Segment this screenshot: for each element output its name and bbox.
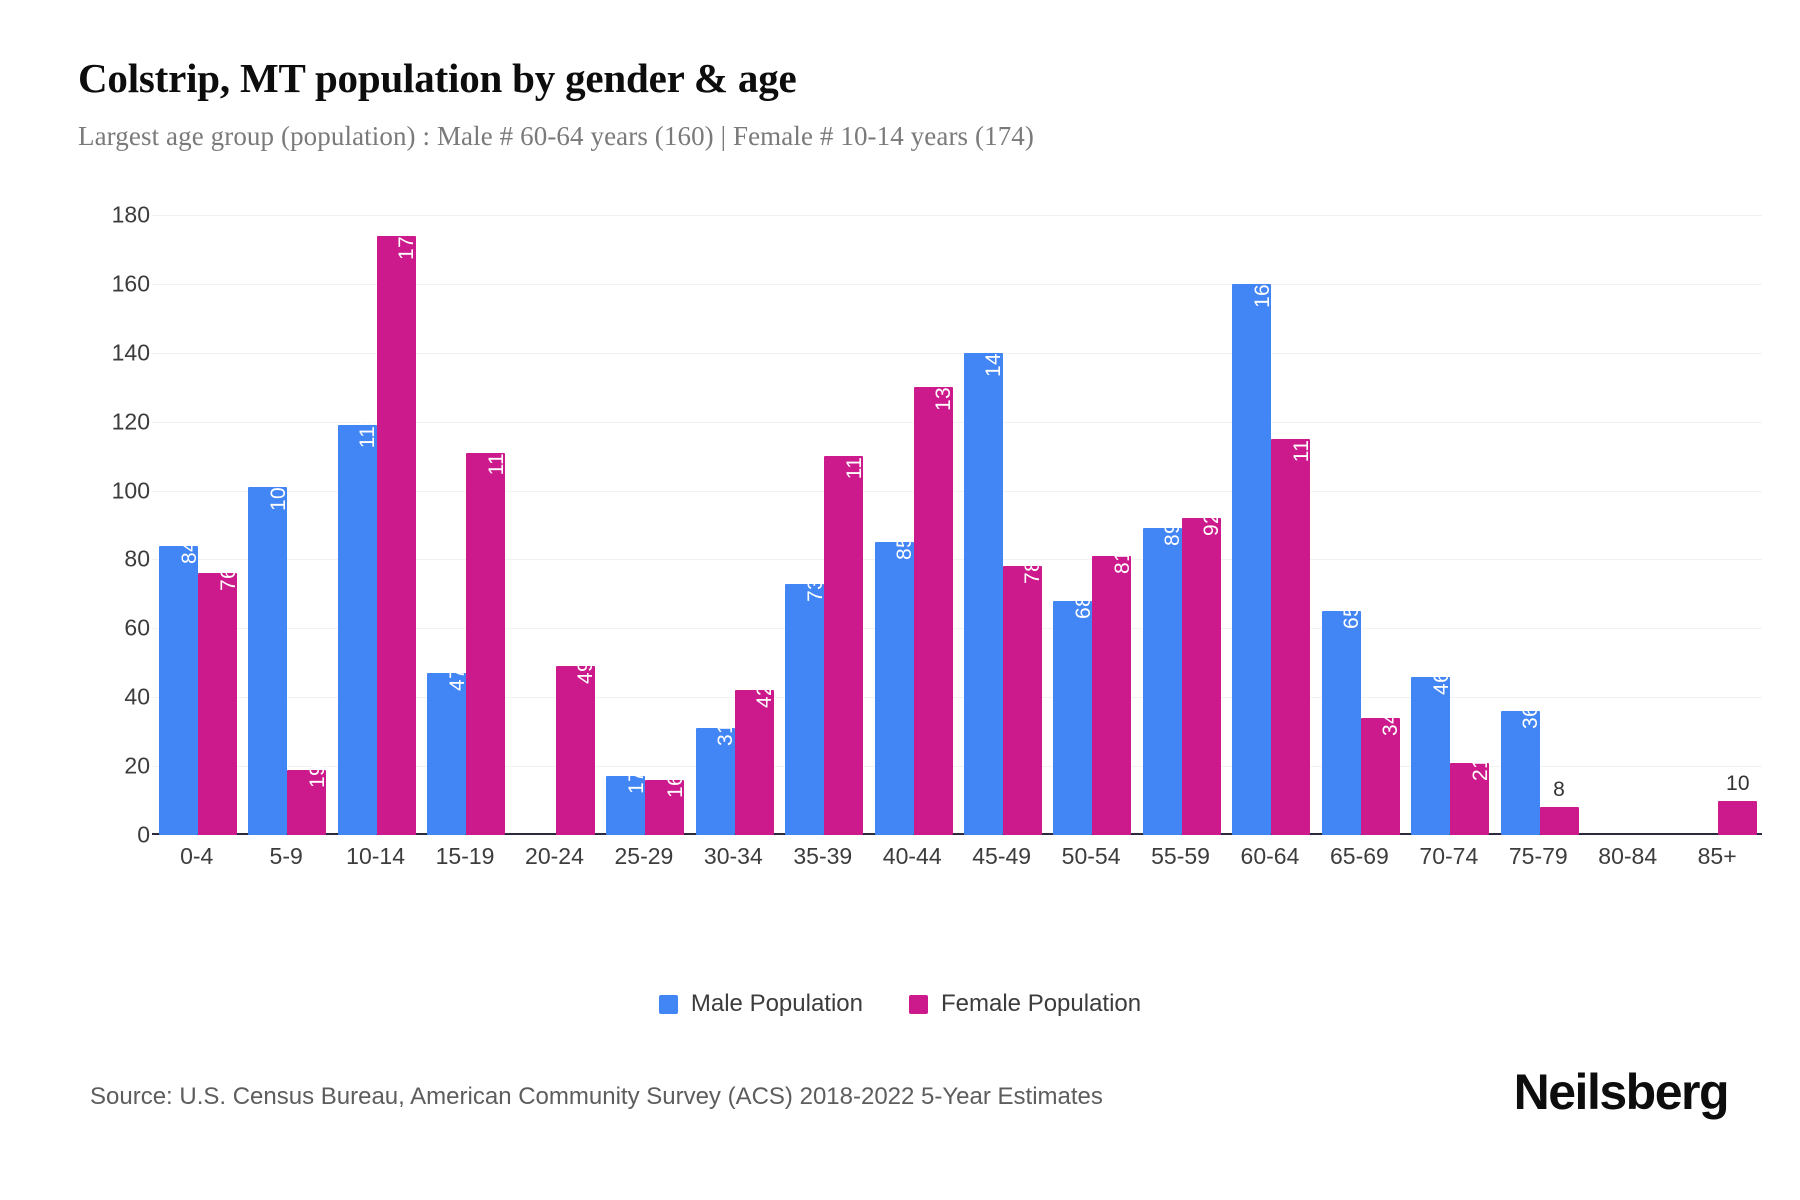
female-bar[interactable]: 42 bbox=[735, 690, 774, 835]
y-axis-tick-label: 180 bbox=[112, 202, 150, 229]
bar-value-label: 47 bbox=[447, 667, 468, 691]
bar-value-label: 17 bbox=[626, 770, 647, 794]
bar-group: 6881 bbox=[1046, 215, 1135, 835]
bar-value-label: 65 bbox=[1341, 605, 1362, 629]
x-axis-tick-label: 25-29 bbox=[599, 843, 688, 870]
bar-value-label: 85 bbox=[894, 536, 915, 560]
y-axis-tick-label: 0 bbox=[137, 822, 150, 849]
x-axis-tick-label: 75-79 bbox=[1494, 843, 1583, 870]
bar-group bbox=[1583, 215, 1672, 835]
bar-group: 8476 bbox=[152, 215, 241, 835]
bar-value-label: 89 bbox=[1162, 522, 1183, 546]
bar-group: 10 bbox=[1672, 215, 1761, 835]
y-axis-tick-label: 160 bbox=[112, 270, 150, 297]
x-axis-tick-label: 85+ bbox=[1672, 843, 1761, 870]
bar-group: 73110 bbox=[778, 215, 867, 835]
bar-value-label: 174 bbox=[396, 224, 417, 260]
bar-value-label: 36 bbox=[1520, 705, 1541, 729]
y-axis-tick-label: 140 bbox=[112, 339, 150, 366]
bar-value-label: 76 bbox=[218, 567, 239, 591]
bar-group: 10119 bbox=[241, 215, 330, 835]
y-axis-tick-label: 20 bbox=[124, 753, 150, 780]
bar-value-label: 84 bbox=[179, 540, 200, 564]
male-bar[interactable]: 17 bbox=[606, 776, 645, 835]
bar-value-label: 160 bbox=[1252, 272, 1273, 308]
male-bar[interactable]: 84 bbox=[159, 546, 198, 835]
bars-layer: 8476101191191744711149171631427311085130… bbox=[152, 215, 1762, 835]
x-axis-tick-label: 30-34 bbox=[689, 843, 778, 870]
bar-value-label: 81 bbox=[1112, 550, 1133, 574]
female-bar[interactable]: 111 bbox=[466, 453, 505, 835]
bar-group: 6534 bbox=[1315, 215, 1404, 835]
bar-group: 3142 bbox=[689, 215, 778, 835]
chart-subtitle: Largest age group (population) : Male # … bbox=[78, 120, 1728, 152]
plot-area: 020406080100120140160180 847610119119174… bbox=[0, 215, 1800, 875]
bar-value-label: 140 bbox=[983, 341, 1004, 377]
x-axis: 0-45-910-1415-1920-2425-2930-3435-3940-4… bbox=[152, 843, 1762, 870]
male-bar[interactable]: 85 bbox=[875, 542, 914, 835]
x-axis-tick-label: 15-19 bbox=[420, 843, 509, 870]
legend-label: Female Population bbox=[941, 990, 1141, 1018]
bar-value-label: 46 bbox=[1431, 671, 1452, 695]
male-bar[interactable]: 73 bbox=[785, 584, 824, 835]
bar-value-label: 42 bbox=[754, 684, 775, 708]
bar-value-label: 10 bbox=[1726, 773, 1750, 794]
legend-label: Male Population bbox=[691, 990, 863, 1018]
x-axis-tick-label: 45-49 bbox=[957, 843, 1046, 870]
bar-group: 119174 bbox=[331, 215, 420, 835]
female-bar[interactable]: 110 bbox=[824, 456, 863, 835]
x-axis-tick-label: 65-69 bbox=[1315, 843, 1404, 870]
bar-value-label: 101 bbox=[268, 475, 289, 511]
bar-value-label: 115 bbox=[1291, 428, 1312, 462]
male-bar[interactable]: 140 bbox=[964, 353, 1003, 835]
bar-group: 368 bbox=[1494, 215, 1583, 835]
bar-value-label: 49 bbox=[575, 660, 596, 684]
bar-group: 160115 bbox=[1225, 215, 1314, 835]
chart-footer: Source: U.S. Census Bureau, American Com… bbox=[0, 1075, 1800, 1145]
female-bar[interactable]: 78 bbox=[1003, 566, 1042, 835]
bar-value-label: 68 bbox=[1073, 595, 1094, 619]
bar-value-label: 31 bbox=[715, 722, 736, 746]
chart-page: Colstrip, MT population by gender & age … bbox=[0, 0, 1800, 1200]
x-axis-tick-label: 20-24 bbox=[510, 843, 599, 870]
female-bar[interactable]: 76 bbox=[198, 573, 237, 835]
chart-header: Colstrip, MT population by gender & age … bbox=[78, 55, 1728, 153]
page-title: Colstrip, MT population by gender & age bbox=[78, 55, 1728, 102]
female-bar[interactable]: 21 bbox=[1450, 763, 1489, 835]
male-bar[interactable]: 36 bbox=[1501, 711, 1540, 835]
x-axis-tick-label: 5-9 bbox=[241, 843, 330, 870]
female-bar[interactable]: 34 bbox=[1361, 718, 1400, 835]
x-axis-tick-label: 55-59 bbox=[1136, 843, 1225, 870]
x-axis-tick-label: 35-39 bbox=[778, 843, 867, 870]
female-bar[interactable]: 49 bbox=[556, 666, 595, 835]
source-note: Source: U.S. Census Bureau, American Com… bbox=[90, 1083, 1103, 1111]
bar-group: 4621 bbox=[1404, 215, 1493, 835]
y-axis-tick-label: 40 bbox=[124, 684, 150, 711]
x-axis-tick-label: 10-14 bbox=[331, 843, 420, 870]
male-bar[interactable]: 101 bbox=[248, 487, 287, 835]
bar-value-label: 130 bbox=[933, 375, 954, 411]
bar-group: 47111 bbox=[420, 215, 509, 835]
female-bar[interactable]: 10 bbox=[1718, 801, 1757, 835]
male-swatch-icon bbox=[659, 995, 678, 1014]
bar-value-label: 19 bbox=[307, 764, 328, 788]
chart-legend: Male PopulationFemale Population bbox=[0, 990, 1800, 1018]
female-bar[interactable]: 19 bbox=[287, 770, 326, 835]
bar-value-label: 34 bbox=[1380, 712, 1401, 736]
male-bar[interactable]: 160 bbox=[1232, 284, 1271, 835]
legend-item[interactable]: Male Population bbox=[659, 990, 863, 1018]
male-bar[interactable]: 68 bbox=[1053, 601, 1092, 835]
bar-value-label: 8 bbox=[1553, 779, 1565, 800]
female-bar[interactable]: 92 bbox=[1182, 518, 1221, 835]
female-bar[interactable]: 115 bbox=[1271, 439, 1310, 835]
bar-value-label: 73 bbox=[805, 578, 826, 602]
female-bar[interactable]: 174 bbox=[377, 236, 416, 835]
x-axis-tick-label: 0-4 bbox=[152, 843, 241, 870]
bar-group: 49 bbox=[510, 215, 599, 835]
male-bar[interactable]: 47 bbox=[427, 673, 466, 835]
bar-group: 85130 bbox=[868, 215, 957, 835]
bar-group: 1716 bbox=[599, 215, 688, 835]
female-bar[interactable]: 8 bbox=[1540, 807, 1579, 835]
x-axis-tick-label: 50-54 bbox=[1046, 843, 1135, 870]
male-bar[interactable]: 119 bbox=[338, 425, 377, 835]
bar-value-label: 92 bbox=[1201, 512, 1222, 536]
y-axis-tick-label: 60 bbox=[124, 615, 150, 642]
male-bar[interactable]: 31 bbox=[696, 728, 735, 835]
bar-value-label: 110 bbox=[844, 445, 865, 479]
male-bar[interactable]: 46 bbox=[1411, 677, 1450, 835]
bar-value-label: 119 bbox=[357, 414, 378, 448]
y-axis: 020406080100120140160180 bbox=[88, 215, 150, 835]
female-bar[interactable]: 130 bbox=[914, 387, 953, 835]
female-swatch-icon bbox=[909, 995, 928, 1014]
y-axis-tick-label: 80 bbox=[124, 546, 150, 573]
male-bar[interactable]: 65 bbox=[1322, 611, 1361, 835]
bar-value-label: 111 bbox=[486, 442, 507, 475]
bar-group: 8992 bbox=[1136, 215, 1225, 835]
y-axis-tick-label: 100 bbox=[112, 477, 150, 504]
bar-value-label: 78 bbox=[1022, 560, 1043, 584]
x-axis-tick-label: 40-44 bbox=[868, 843, 957, 870]
bar-group: 14078 bbox=[957, 215, 1046, 835]
x-axis-tick-label: 80-84 bbox=[1583, 843, 1672, 870]
female-bar[interactable]: 16 bbox=[645, 780, 684, 835]
legend-item[interactable]: Female Population bbox=[909, 990, 1141, 1018]
y-axis-tick-label: 120 bbox=[112, 408, 150, 435]
bar-value-label: 21 bbox=[1470, 757, 1491, 781]
bar-value-label: 16 bbox=[665, 774, 686, 798]
x-axis-tick-label: 70-74 bbox=[1404, 843, 1493, 870]
brand-logo: Neilsberg bbox=[1514, 1063, 1728, 1121]
x-axis-tick-label: 60-64 bbox=[1225, 843, 1314, 870]
male-bar[interactable]: 89 bbox=[1143, 528, 1182, 835]
female-bar[interactable]: 81 bbox=[1092, 556, 1131, 835]
